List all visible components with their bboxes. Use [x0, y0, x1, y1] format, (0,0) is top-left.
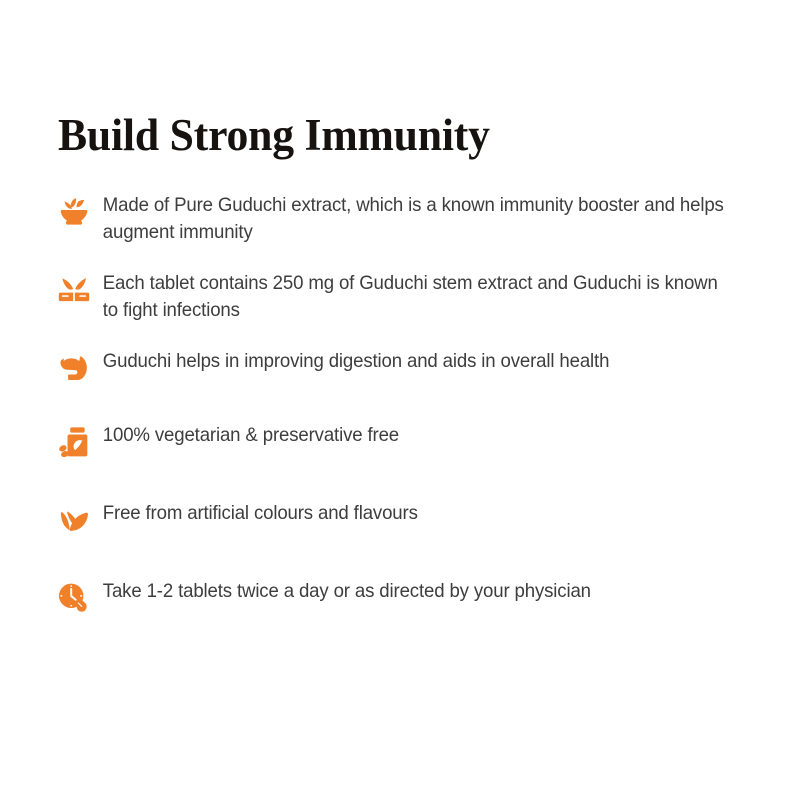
list-item: Guduchi helps in improving digestion and…	[0, 346, 800, 398]
page-title: Build Strong Immunity	[58, 112, 490, 159]
leaves-icon	[50, 498, 98, 544]
clock-with-tablets-icon	[50, 576, 98, 622]
flexed-bicep-icon	[50, 346, 98, 392]
supplement-bottle-icon	[50, 420, 98, 466]
benefits-list: Made of Pure Guduchi extract, which is a…	[0, 190, 800, 628]
list-item: 100% vegetarian & preservative free	[0, 420, 800, 472]
list-item-label: Made of Pure Guduchi extract, which is a…	[98, 190, 730, 246]
list-item: Free from artificial colours and flavour…	[0, 498, 800, 550]
list-item-label: Free from artificial colours and flavour…	[98, 498, 730, 527]
product-benefits-panel: Build Strong Immunity Made of Pure Guduc…	[0, 0, 800, 800]
list-item: Made of Pure Guduchi extract, which is a…	[0, 190, 800, 246]
tablets-with-leaves-icon	[50, 268, 98, 314]
list-item-label: Each tablet contains 250 mg of Guduchi s…	[98, 268, 730, 324]
mortar-and-pestle-herbs-icon	[50, 190, 98, 236]
list-item-label: 100% vegetarian & preservative free	[98, 420, 730, 449]
list-item-label: Take 1-2 tablets twice a day or as direc…	[98, 576, 730, 605]
list-item-label: Guduchi helps in improving digestion and…	[98, 346, 730, 375]
list-item: Each tablet contains 250 mg of Guduchi s…	[0, 268, 800, 324]
list-item: Take 1-2 tablets twice a day or as direc…	[0, 576, 800, 628]
